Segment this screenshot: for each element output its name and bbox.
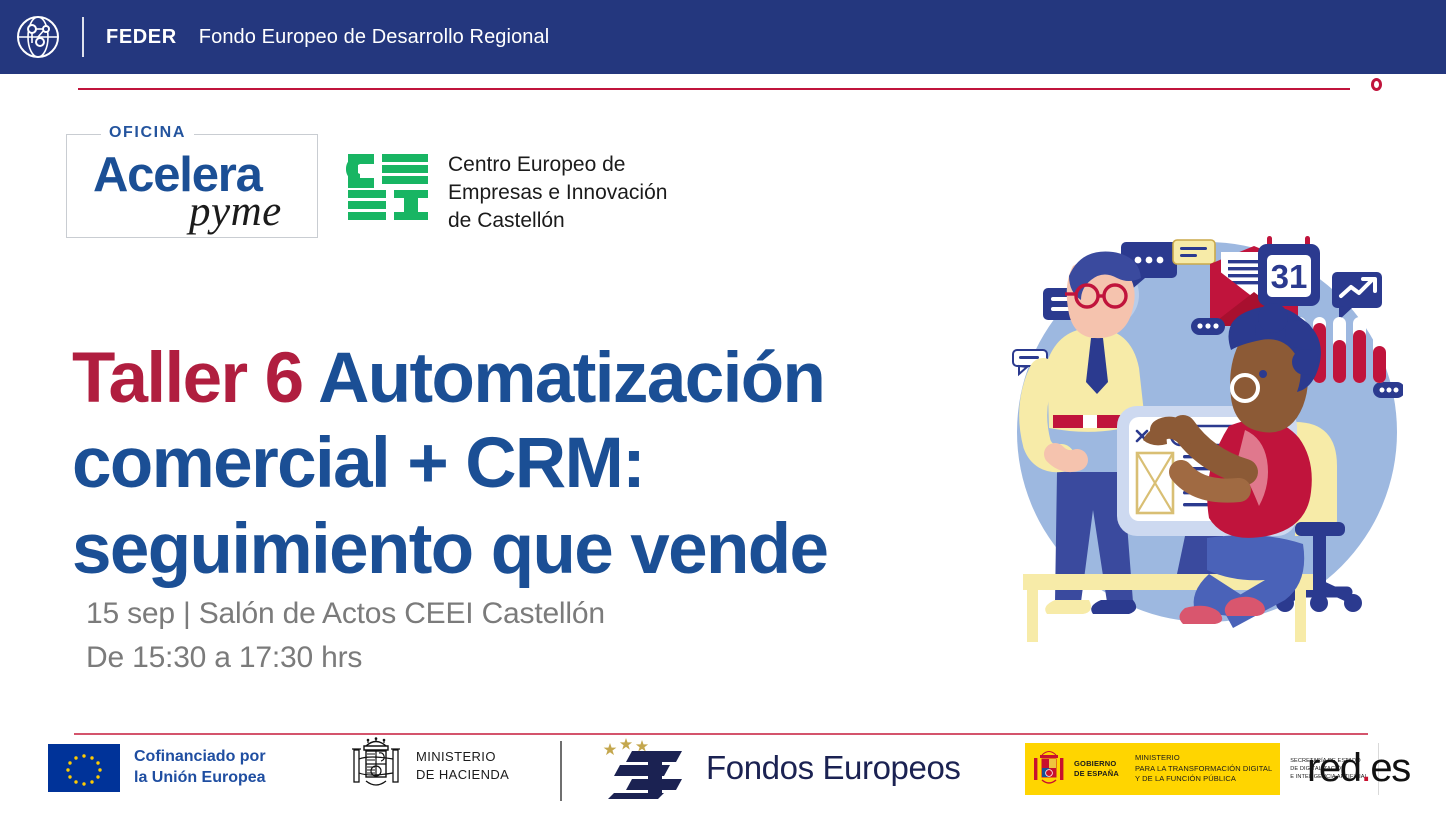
illustration-svg: 31 bbox=[995, 222, 1403, 642]
calendar-31-icon: 31 bbox=[1258, 236, 1320, 306]
redes-suffix: es bbox=[1370, 746, 1409, 790]
two-people-at-desk-with-monitor-illustration: 31 bbox=[995, 222, 1403, 642]
gobierno-label: GOBIERNO DE ESPAÑA bbox=[1074, 759, 1119, 779]
eu-flag-icon bbox=[48, 744, 120, 792]
ceei-logo: Centro Europeo de Empresas e Innovación … bbox=[346, 150, 667, 235]
acelera-pyme-script: pyme bbox=[189, 190, 282, 233]
fondos-europeos-text: Fondos Europeos bbox=[706, 749, 961, 787]
logo-row: OFICINA Acelera pyme Centro Europeo de E… bbox=[66, 134, 667, 238]
redes-wordmark: red.es bbox=[1307, 746, 1410, 790]
dots-pill-icon-b bbox=[1373, 382, 1403, 398]
redes-logo: red.es bbox=[1307, 748, 1410, 788]
gobierno-ministry-text: MINISTERIO PARA LA TRANSFORMACIÓN DIGITA… bbox=[1135, 753, 1272, 785]
event-details: 15 sep | Salón de Actos CEEI Castellón D… bbox=[86, 592, 605, 679]
feder-abbreviation: FEDER bbox=[106, 26, 177, 49]
spain-coat-of-arms-icon bbox=[1031, 749, 1067, 789]
header-divider bbox=[82, 17, 84, 57]
top-red-divider bbox=[78, 88, 1350, 90]
ceei-blocks-icon bbox=[346, 150, 430, 222]
gobierno-yellow-panel: GOBIERNO DE ESPAÑA MINISTERIO PARA LA TR… bbox=[1025, 743, 1280, 795]
title-highlight: Taller 6 bbox=[72, 339, 303, 418]
page-title: Taller 6 Automatización comercial + CRM:… bbox=[72, 336, 972, 594]
fondos-europeos-bars-icon bbox=[598, 737, 690, 799]
footer-logos: Cofinanciado por la Unión Europea bbox=[0, 735, 1446, 813]
ministerio-hacienda-text: MINISTERIO DE HACIENDA bbox=[416, 748, 509, 783]
globe-network-icon bbox=[14, 13, 62, 61]
footer-vertical-divider bbox=[560, 741, 562, 801]
note-card-icon bbox=[1173, 240, 1215, 264]
ceei-logo-text: Centro Europeo de Empresas e Innovación … bbox=[448, 150, 667, 235]
calendar-day-number: 31 bbox=[1271, 258, 1308, 295]
eu-funding-text: Cofinanciado por la Unión Europea bbox=[134, 747, 266, 789]
spain-coat-of-arms-icon bbox=[348, 737, 404, 795]
feder-header-bar: FEDER Fondo Europeo de Desarrollo Region… bbox=[0, 0, 1446, 74]
dots-pill-icon-a bbox=[1191, 318, 1225, 335]
ministerio-hacienda-logo: MINISTERIO DE HACIENDA bbox=[348, 737, 509, 795]
redes-dot: . bbox=[1361, 746, 1371, 790]
acelera-pyme-eyebrow: OFICINA bbox=[101, 124, 194, 142]
fondos-europeos-logo: Fondos Europeos bbox=[598, 737, 961, 799]
trending-up-bubble-icon bbox=[1332, 272, 1382, 320]
acelera-pyme-logo: OFICINA Acelera pyme bbox=[66, 134, 318, 238]
redes-prefix: red bbox=[1307, 746, 1361, 790]
feder-full-name: Fondo Europeo de Desarrollo Regional bbox=[199, 26, 550, 49]
eu-funding-logo: Cofinanciado por la Unión Europea bbox=[48, 744, 266, 792]
red-circle-marker-icon bbox=[1371, 78, 1382, 91]
event-poster: FEDER Fondo Europeo de Desarrollo Region… bbox=[0, 0, 1446, 813]
